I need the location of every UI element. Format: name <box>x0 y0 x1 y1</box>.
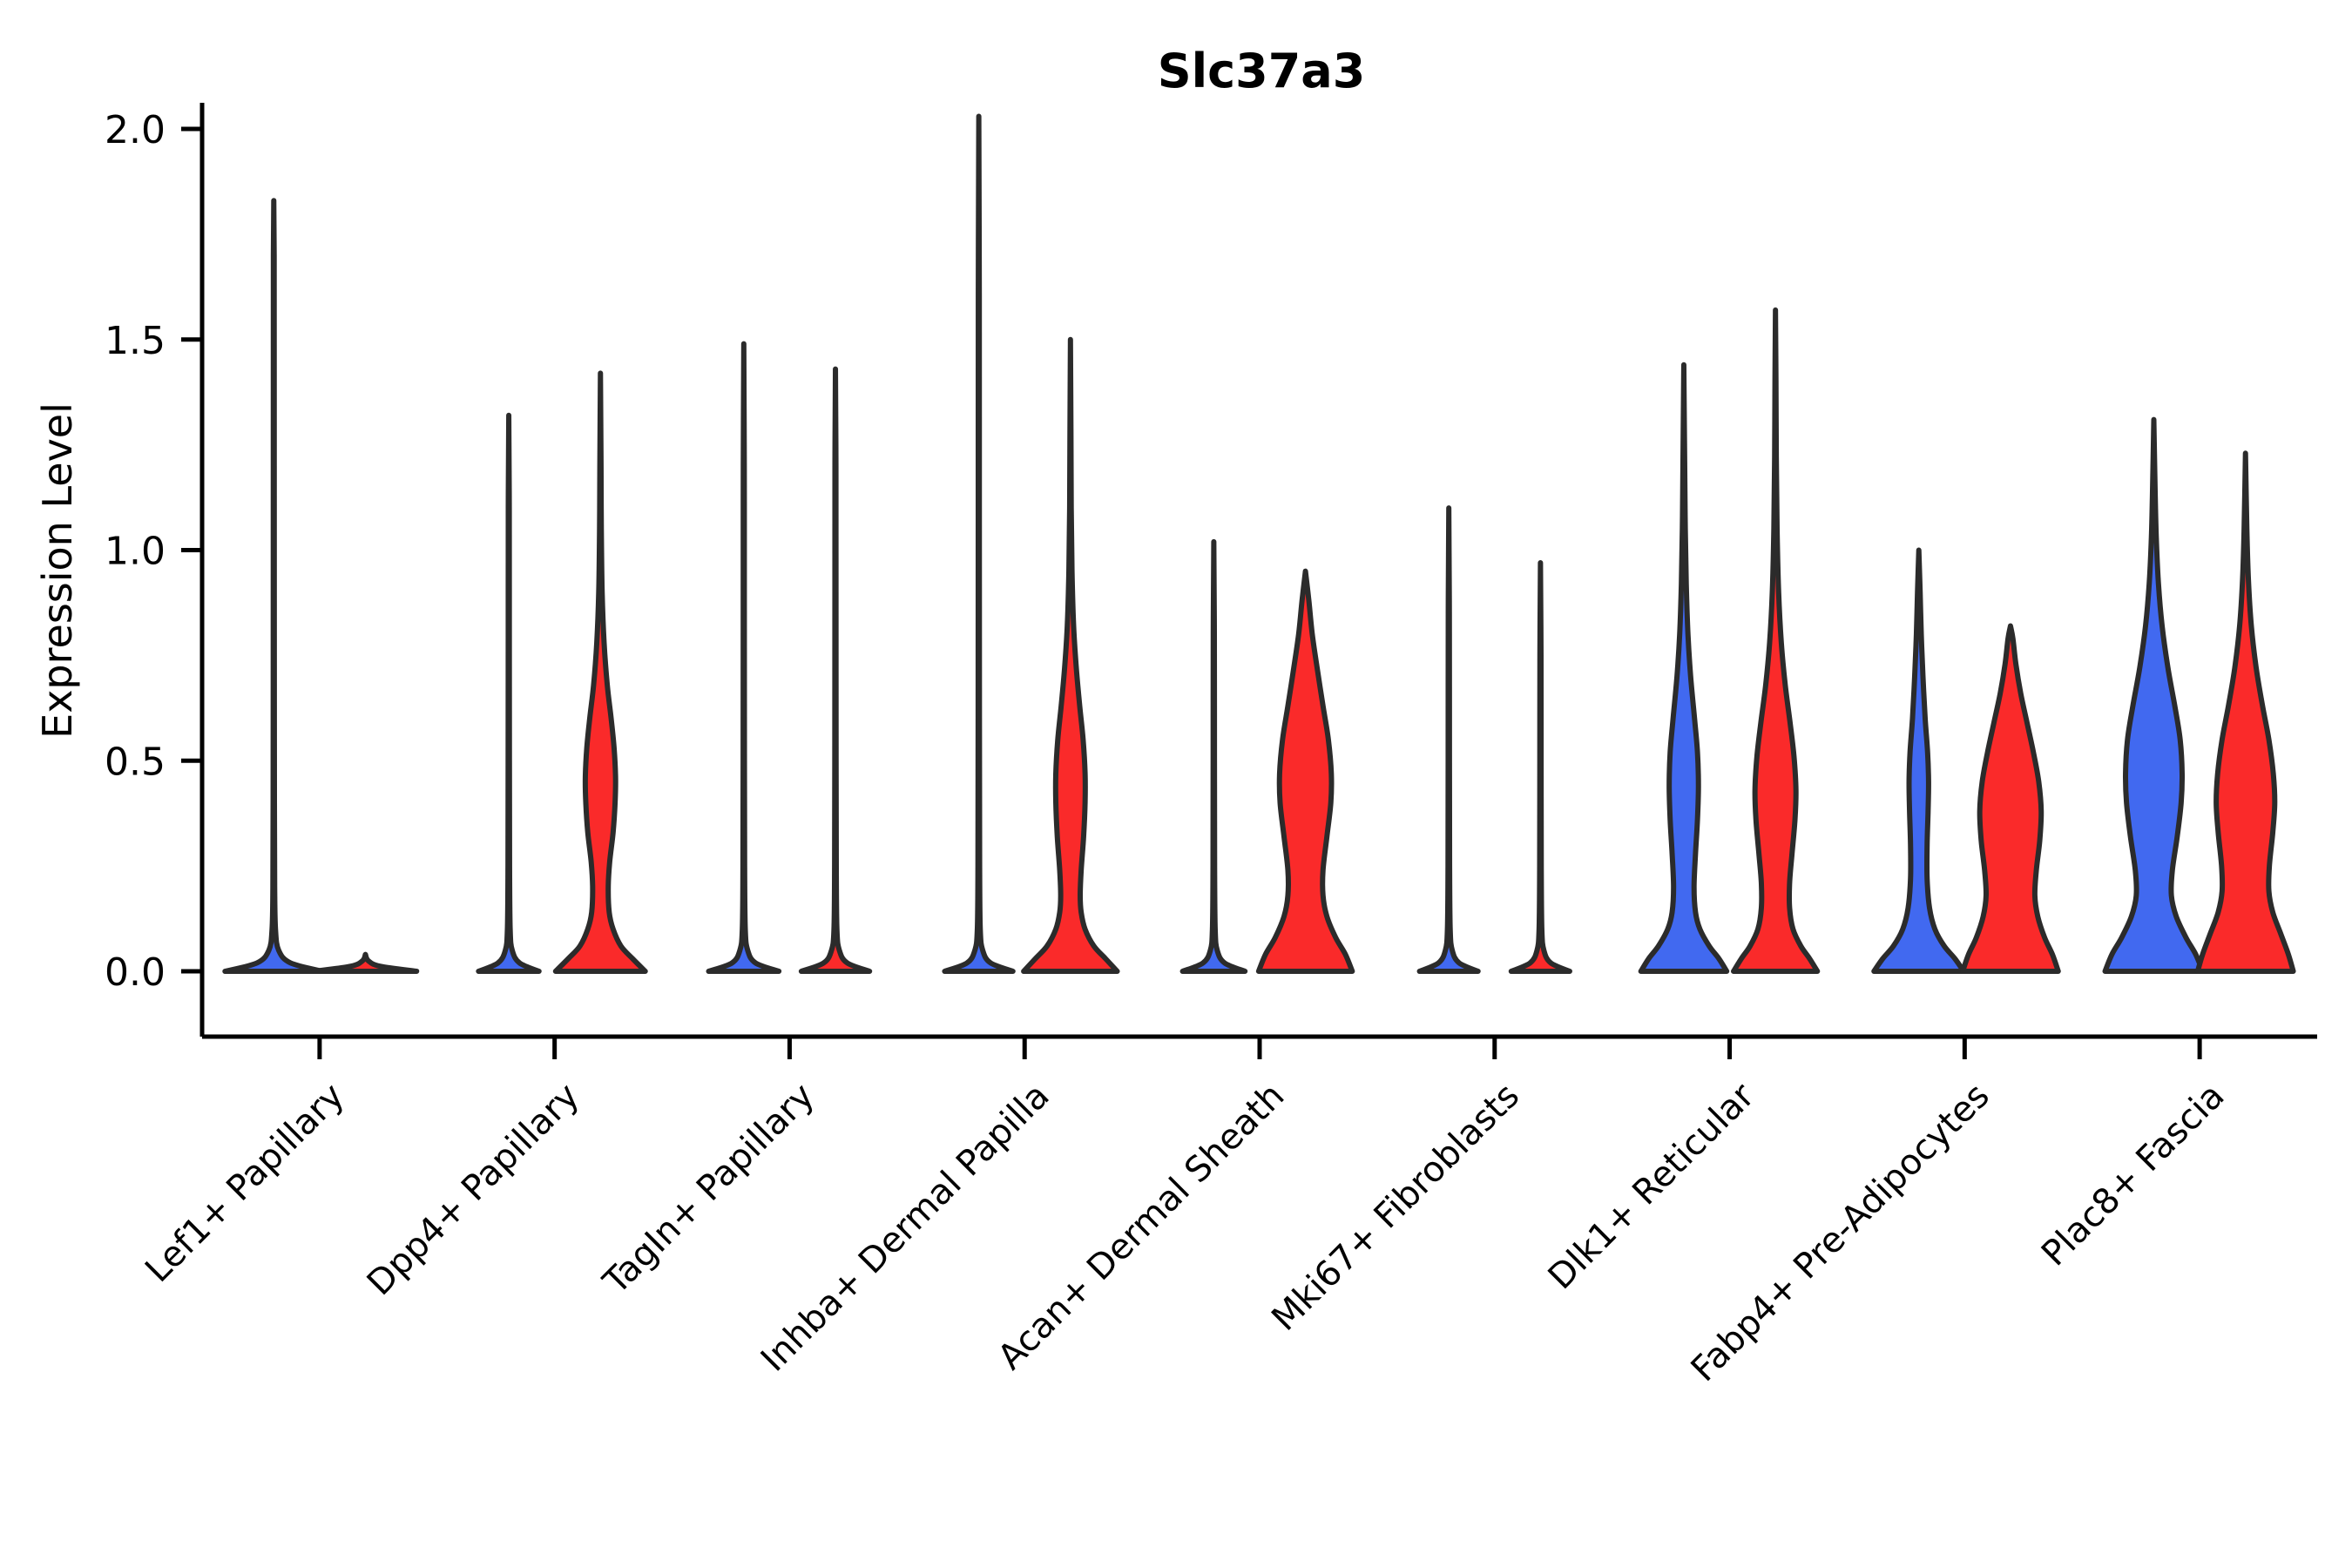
y-tick-label: 1.0 <box>105 530 166 574</box>
plot-canvas: Slc37a3 Expression Level 0.00.51.01.52.0… <box>0 0 2352 1568</box>
y-axis-label: Expression Level <box>34 402 81 739</box>
chart-title: Slc37a3 <box>1158 44 1366 98</box>
y-tick-label: 0.0 <box>105 950 166 995</box>
y-tick-label: 1.5 <box>105 319 166 363</box>
violin-plot-figure: Slc37a3 Expression Level 0.00.51.01.52.0… <box>0 0 2352 1568</box>
y-tick-label: 0.5 <box>105 740 166 784</box>
y-tick-label: 2.0 <box>105 108 166 152</box>
